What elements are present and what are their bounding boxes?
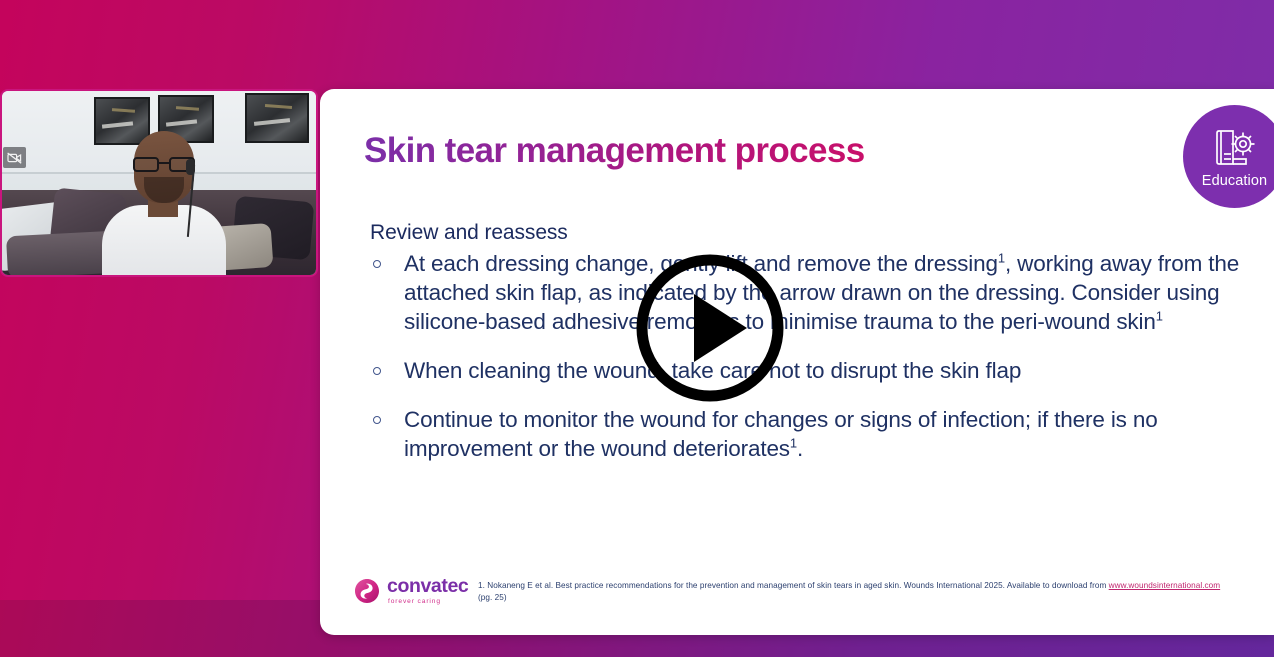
camera-off-icon[interactable] bbox=[3, 147, 26, 168]
presentation-slide: Skin tear management process Review and … bbox=[320, 89, 1274, 635]
slide-footer: convatec forever caring 1. Nokaneng E et… bbox=[320, 575, 1274, 619]
citation-link[interactable]: www.woundsinternational.com bbox=[1109, 581, 1220, 590]
slide-bullet: At each dressing change, gently lift and… bbox=[350, 249, 1250, 336]
video-player-stage: Skin tear management process Review and … bbox=[0, 0, 1274, 657]
slide-bullet-list: At each dressing change, gently lift and… bbox=[350, 249, 1250, 483]
bullet-text-run: . bbox=[797, 436, 803, 461]
slide-bullet-text: At each dressing change, gently lift and… bbox=[404, 251, 1239, 334]
convatec-swoosh-icon bbox=[354, 578, 380, 604]
citation-superscript: 1 bbox=[790, 436, 797, 451]
play-icon bbox=[635, 253, 785, 403]
slide-bullet-text: Continue to monitor the wound for change… bbox=[404, 407, 1158, 461]
education-badge-label: Education bbox=[1202, 173, 1267, 189]
slide-subtitle: Review and reassess bbox=[370, 221, 568, 245]
convatec-wordmark: convatec bbox=[387, 577, 468, 597]
slide-bullet: When cleaning the wound, take care not t… bbox=[350, 356, 1250, 385]
webcam-video-panel[interactable] bbox=[0, 89, 318, 277]
convatec-tagline: forever caring bbox=[388, 599, 468, 606]
citation-suffix: (pg. 25) bbox=[478, 593, 507, 602]
play-button[interactable] bbox=[635, 253, 785, 403]
education-badge: Education bbox=[1183, 105, 1274, 208]
bullet-marker-icon bbox=[373, 367, 381, 375]
bullet-text-run: Continue to monitor the wound for change… bbox=[404, 407, 1158, 461]
book-gear-icon bbox=[1212, 126, 1258, 170]
slide-bullet: Continue to monitor the wound for change… bbox=[350, 405, 1250, 463]
wall-art bbox=[245, 93, 309, 143]
citation-superscript: 1 bbox=[1156, 309, 1163, 324]
citation-reference: 1. Nokaneng E et al. Best practice recom… bbox=[478, 580, 1228, 604]
bullet-marker-icon bbox=[373, 416, 381, 424]
presenter-figure bbox=[98, 119, 228, 277]
citation-superscript: 1 bbox=[998, 251, 1005, 266]
citation-prefix: 1. Nokaneng E et al. Best practice recom… bbox=[478, 581, 1109, 590]
convatec-logo: convatec forever caring bbox=[354, 577, 468, 605]
bullet-marker-icon bbox=[373, 260, 381, 268]
slide-title: Skin tear management process bbox=[364, 131, 865, 171]
webcam-video-feed bbox=[2, 91, 316, 275]
